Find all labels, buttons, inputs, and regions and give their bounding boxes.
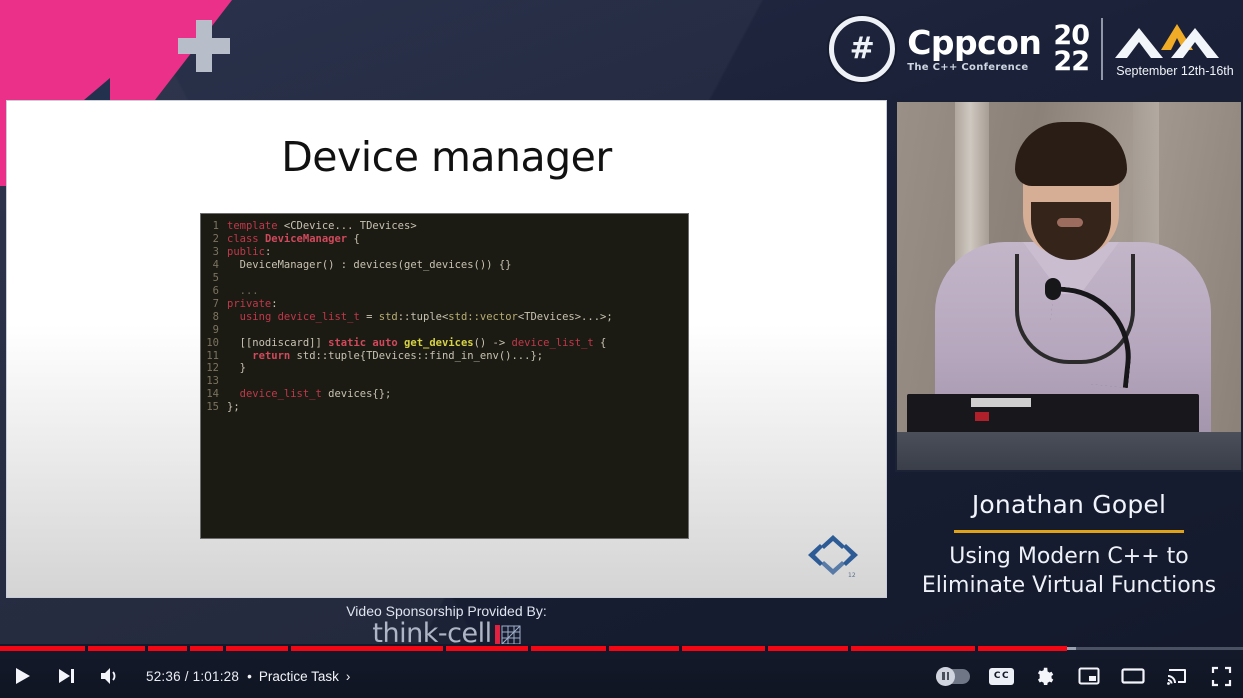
player-controls: 52:36 / 1:01:28 • Practice Task › CC	[0, 644, 1243, 698]
cppcon-tagline: The C++ Conference	[907, 62, 1028, 73]
chapter-marker	[528, 646, 531, 651]
code-block: 1template <CDevice... TDevices>2class De…	[200, 213, 689, 539]
theater-mode-icon	[1121, 666, 1145, 686]
code-line-number: 9	[201, 324, 227, 337]
code-line: 5	[201, 272, 688, 285]
fullscreen-button[interactable]	[1199, 654, 1243, 698]
laptop-sticker	[971, 398, 1031, 407]
code-line: 6 ...	[201, 285, 688, 298]
microphone-head	[1045, 278, 1061, 300]
code-line-text: [[nodiscard]] static auto get_devices() …	[227, 337, 606, 350]
code-line-text: class DeviceManager {	[227, 233, 360, 246]
subtitles-button[interactable]: CC	[979, 654, 1023, 698]
cppcon-hash-glyph: #	[834, 21, 890, 77]
code-line-number: 15	[201, 401, 227, 414]
code-line-number: 8	[201, 311, 227, 324]
code-line-text: template <CDevice... TDevices>	[227, 220, 417, 233]
cppcon-year-bottom: 22	[1053, 49, 1089, 75]
code-line: 12 }	[201, 362, 688, 375]
theater-button[interactable]	[1111, 654, 1155, 698]
play-button[interactable]	[0, 654, 44, 698]
chapter-marker	[145, 646, 148, 651]
think-cell-mark-icon	[495, 623, 521, 644]
code-line: 8 using device_list_t = std::tuple<std::…	[201, 311, 688, 324]
microphone-stem	[1044, 286, 1137, 388]
code-line-number: 4	[201, 259, 227, 272]
code-line-text: public:	[227, 246, 271, 259]
speaker-mouth	[1057, 218, 1083, 227]
speaker-divider	[954, 530, 1184, 533]
code-line-number: 12	[201, 362, 227, 375]
talk-title-line-1: Using Modern C++ to	[895, 542, 1243, 571]
code-line-text: return std::tuple{TDevices::find_in_env(…	[227, 350, 543, 363]
cppcon-badge-icon: #	[829, 16, 895, 82]
next-button[interactable]	[44, 654, 88, 698]
video-stage[interactable]: # Cppcon The C++ Conference 20 22 Septem…	[0, 0, 1243, 644]
chapter-marker	[765, 646, 768, 651]
chapter-title: Practice Task	[259, 669, 339, 684]
speaker-camera-feed	[895, 100, 1243, 472]
code-line: 1template <CDevice... TDevices>	[201, 220, 688, 233]
microphone-icon	[1049, 278, 1139, 388]
next-track-icon	[56, 666, 76, 686]
sponsor-label: Video Sponsorship Provided By:	[346, 603, 547, 619]
progress-played	[0, 646, 1067, 651]
code-line: 3public:	[201, 246, 688, 259]
settings-button[interactable]	[1023, 654, 1067, 698]
control-row: 52:36 / 1:01:28 • Practice Task › CC	[0, 654, 1243, 698]
code-line-number: 10	[201, 337, 227, 350]
mountains-icon	[1115, 20, 1235, 60]
cc-icon: CC	[989, 668, 1014, 685]
chapter-title-button[interactable]: • Practice Task ›	[247, 669, 350, 684]
code-line: 9	[201, 324, 688, 337]
code-line-text: using device_list_t = std::tuple<std::ve…	[227, 311, 613, 324]
code-line-text: device_list_t devices{};	[227, 388, 391, 401]
progress-bar[interactable]	[0, 646, 1243, 651]
pause-icon	[936, 667, 955, 686]
miniplayer-icon	[1078, 666, 1100, 686]
speaker-name: Jonathan Gopel	[895, 490, 1243, 519]
code-line-number: 6	[201, 285, 227, 298]
autoplay-pill	[936, 669, 970, 684]
code-line-text: ...	[227, 285, 259, 298]
chapter-marker	[606, 646, 609, 651]
podium	[895, 432, 1243, 472]
code-line-text: private:	[227, 298, 278, 311]
gear-icon	[1035, 666, 1056, 687]
talk-title: Using Modern C++ to Eliminate Virtual Fu…	[895, 542, 1243, 600]
talk-title-line-2: Eliminate Virtual Functions	[895, 571, 1243, 600]
chevron-right-icon: ›	[346, 669, 351, 684]
code-line: 2class DeviceManager {	[201, 233, 688, 246]
code-line: 15};	[201, 401, 688, 414]
code-line-number: 13	[201, 375, 227, 388]
chapter-marker	[679, 646, 682, 651]
volume-icon	[99, 666, 121, 686]
chapter-marker	[975, 646, 978, 651]
volume-button[interactable]	[88, 654, 132, 698]
cppcon-wordmark: Cppcon The C++ Conference	[907, 26, 1041, 73]
laptop-logo	[975, 412, 989, 421]
chapter-marker	[848, 646, 851, 651]
logo-divider	[1101, 18, 1103, 80]
code-line-text: };	[227, 401, 240, 414]
cppcon-date-block: September 12th-16th	[1115, 20, 1235, 78]
chapter-marker	[187, 646, 190, 651]
sponsor-block: Video Sponsorship Provided By: think-cel…	[6, 600, 887, 644]
time-display: 52:36 / 1:01:28	[146, 669, 239, 684]
fullscreen-icon	[1211, 666, 1232, 687]
miniplayer-button[interactable]	[1067, 654, 1111, 698]
code-line-number: 11	[201, 350, 227, 363]
think-cell-wordmark: think-cell	[372, 620, 491, 644]
cppcon-year: 20 22	[1053, 23, 1089, 74]
svg-text:12: 12	[848, 572, 856, 579]
slide-title: Device manager	[7, 133, 886, 181]
autoplay-toggle[interactable]	[933, 654, 973, 698]
cppcon-name: Cppcon	[907, 26, 1041, 59]
code-line-number: 2	[201, 233, 227, 246]
chapter-marker	[443, 646, 446, 651]
code-line-number: 14	[201, 388, 227, 401]
presentation-slide: Device manager 1template <CDevice... TDe…	[6, 100, 887, 598]
code-line: 14 device_list_t devices{};	[201, 388, 688, 401]
code-line: 10 [[nodiscard]] static auto get_devices…	[201, 337, 688, 350]
chapter-marker	[288, 646, 291, 651]
cppcon-dates: September 12th-16th	[1116, 64, 1233, 78]
cppcon-logo: # Cppcon The C++ Conference 20 22 Septem…	[829, 8, 1235, 90]
speaker-info: Jonathan Gopel Using Modern C++ to Elimi…	[895, 476, 1243, 600]
cast-button[interactable]	[1155, 654, 1199, 698]
code-line-number: 1	[201, 220, 227, 233]
code-line: 4 DeviceManager() : devices(get_devices(…	[201, 259, 688, 272]
code-line-text: DeviceManager() : devices(get_devices())…	[227, 259, 511, 272]
diamond-arrows-logo-icon: 12	[802, 531, 864, 579]
code-line: 13	[201, 375, 688, 388]
think-cell-logo: think-cell	[372, 620, 520, 644]
play-icon	[12, 666, 32, 686]
code-line-number: 5	[201, 272, 227, 285]
code-line-number: 3	[201, 246, 227, 259]
code-line: 7private:	[201, 298, 688, 311]
cast-icon	[1166, 666, 1188, 686]
code-line-text: }	[227, 362, 246, 375]
chapter-separator: •	[247, 669, 252, 684]
chapter-marker	[223, 646, 226, 651]
code-line: 11 return std::tuple{TDevices::find_in_e…	[201, 350, 688, 363]
plus-icon	[178, 20, 230, 72]
code-line-number: 7	[201, 298, 227, 311]
chapter-marker	[85, 646, 88, 651]
